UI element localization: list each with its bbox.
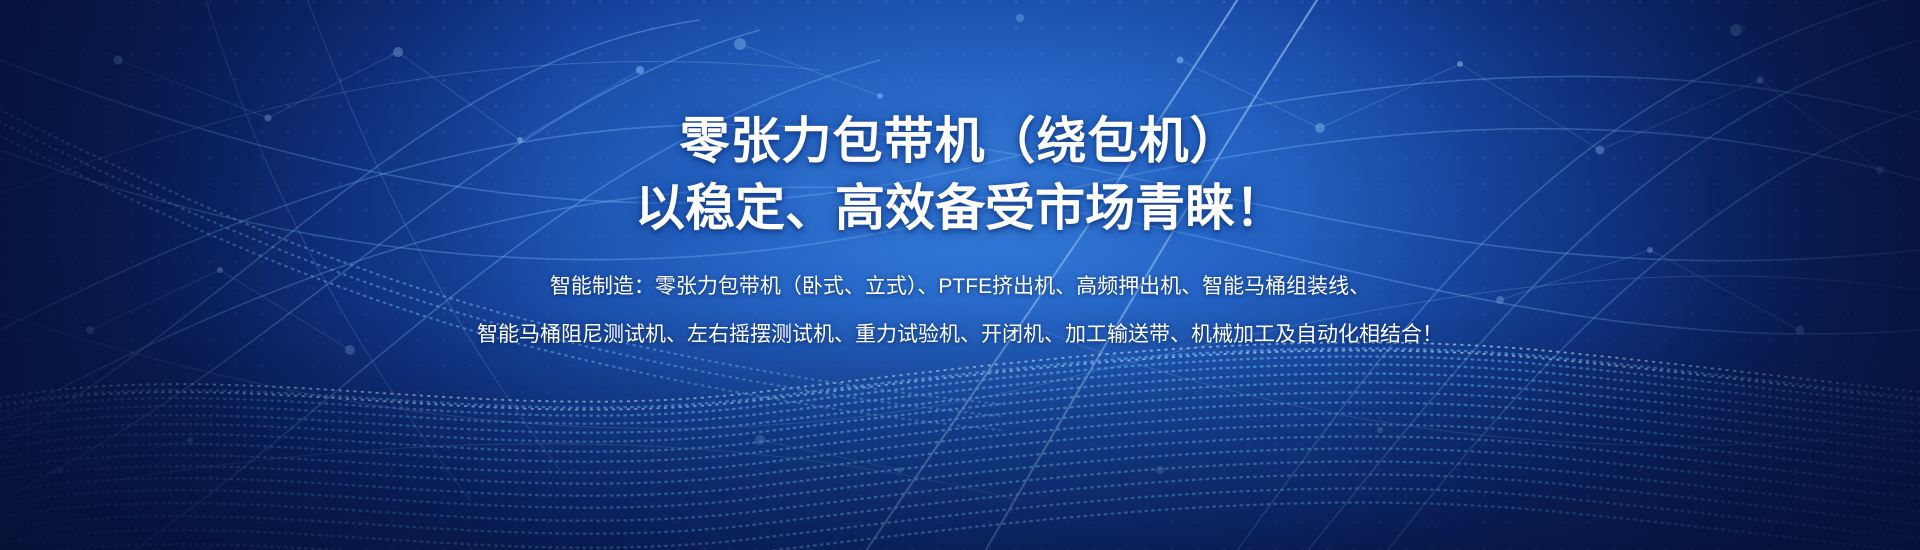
banner-title-line-1: 零张力包带机（绕包机） [680, 108, 1241, 175]
banner-subtitle-line-2: 智能马桶阻尼测试机、左右摇摆测试机、重力试验机、开闭机、加工输送带、机械加工及自… [477, 318, 1443, 352]
banner-content: 零张力包带机（绕包机） 以稳定、高效备受市场青睐！ 智能制造：零张力包带机（卧式… [0, 0, 1920, 550]
hero-banner: 零张力包带机（绕包机） 以稳定、高效备受市场青睐！ 智能制造：零张力包带机（卧式… [0, 0, 1920, 550]
banner-subtitle-line-1: 智能制造：零张力包带机（卧式、立式）、PTFE挤出机、高频押出机、智能马桶组装线… [550, 270, 1370, 304]
banner-title-line-2: 以稳定、高效备受市场青睐！ [635, 175, 1285, 242]
